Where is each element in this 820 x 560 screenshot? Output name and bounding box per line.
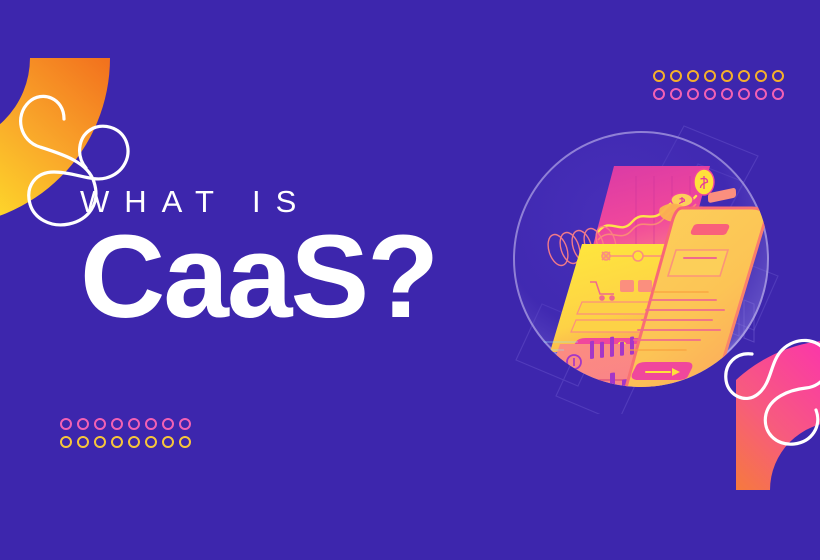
poster-canvas: WHAT IS CaaS? <box>0 0 820 560</box>
device-action-pill <box>632 362 693 380</box>
isometric-dashboard-illustration <box>486 104 796 414</box>
device-home-button <box>647 401 673 414</box>
headline-block: WHAT IS CaaS? <box>80 186 437 332</box>
headline-title: CaaS? <box>80 223 437 332</box>
device-speaker <box>691 224 729 235</box>
